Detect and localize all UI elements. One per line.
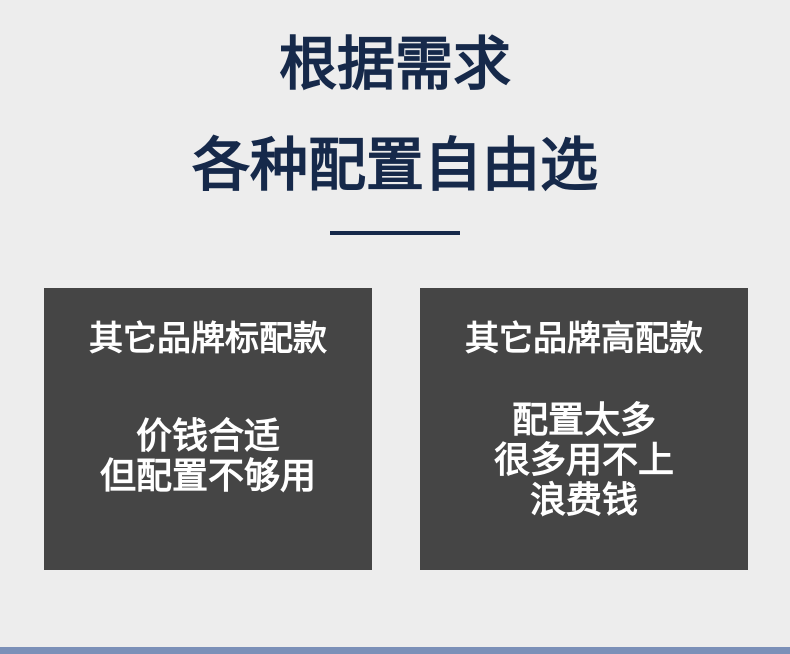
- card-body: 配置太多 很多用不上 浪费钱: [420, 400, 748, 520]
- card-body-line: 浪费钱: [420, 480, 748, 520]
- card-title: 其它品牌高配款: [420, 320, 748, 359]
- bottom-accent-strip: [0, 647, 790, 654]
- headline-divider-wrapper: [0, 222, 790, 240]
- comparison-card-highend: 其它品牌高配款 配置太多 很多用不上 浪费钱: [420, 288, 748, 570]
- card-title: 其它品牌标配款: [44, 320, 372, 359]
- comparison-cards: 其它品牌标配款 价钱合适 但配置不够用 其它品牌高配款 配置太多 很多用不上 浪…: [44, 288, 748, 570]
- headline-divider: [330, 231, 460, 235]
- card-body-line: 价钱合适: [44, 416, 372, 456]
- card-body-line: 但配置不够用: [44, 456, 372, 496]
- promo-banner: 根据需求 各种配置自由选 其它品牌标配款 价钱合适 但配置不够用 其它品牌高配款…: [0, 0, 790, 654]
- card-body-line: 很多用不上: [420, 440, 748, 480]
- card-body: 价钱合适 但配置不够用: [44, 416, 372, 496]
- headline-line-1: 根据需求: [0, 36, 790, 94]
- headline-line-2: 各种配置自由选: [0, 137, 790, 195]
- card-body-line: 配置太多: [420, 400, 748, 440]
- comparison-card-standard: 其它品牌标配款 价钱合适 但配置不够用: [44, 288, 372, 570]
